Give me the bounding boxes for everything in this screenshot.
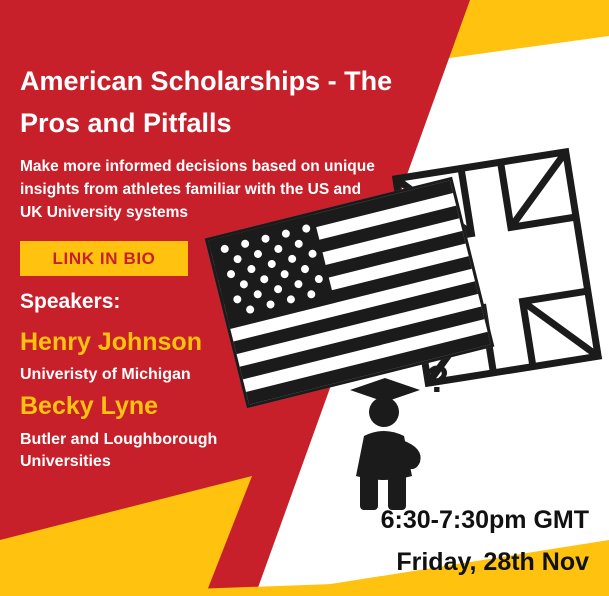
event-time: 6:30-7:30pm GMT [381, 506, 589, 535]
speaker-org-1: Univeristy of Michigan [20, 366, 191, 384]
speaker-org-2: Butler and Loughborough Universities [20, 429, 250, 473]
speaker-name-1: Henry Johnson [20, 328, 202, 357]
student-thinking-icon: ? [340, 360, 470, 510]
page-title: American Scholarships - The Pros and Pit… [20, 60, 420, 144]
svg-text:?: ? [426, 360, 449, 401]
webinar-poster: ? Free Webinar American Scholarships - T… [0, 0, 609, 596]
eyebrow-label: Free Webinar [20, 14, 141, 36]
speaker-name-2: Becky Lyne [20, 392, 158, 421]
speakers-label: Speakers: [20, 290, 120, 314]
subheading-text: Make more informed decisions based on un… [20, 155, 380, 224]
link-in-bio-button[interactable]: LINK IN BIO [20, 241, 188, 276]
association-label: In association with: [18, 550, 166, 568]
event-date: Friday, 28th Nov [396, 548, 589, 577]
